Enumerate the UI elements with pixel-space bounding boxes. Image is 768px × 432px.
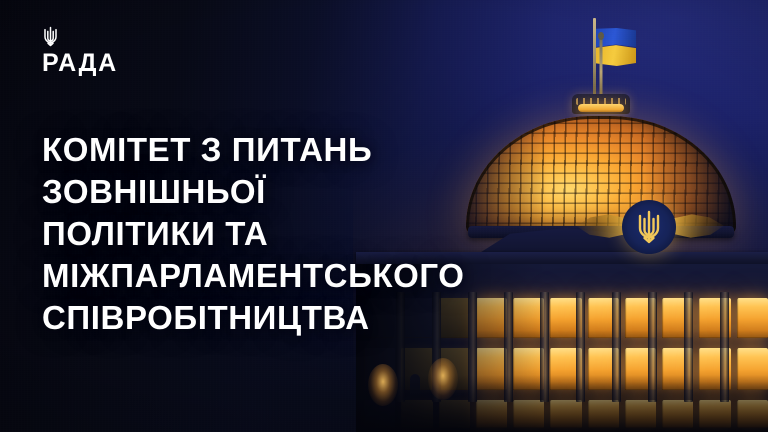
window-row-lower <box>356 400 768 428</box>
ukrainian-trident-icon <box>42 26 59 47</box>
facade-column <box>648 292 657 402</box>
title-line-2: ЗОВНІШНЬОЇ <box>42 171 642 213</box>
window <box>513 400 544 428</box>
facade-statue-silhouette <box>410 374 420 398</box>
dome-spire <box>600 38 603 100</box>
window <box>439 348 470 390</box>
window <box>364 400 395 428</box>
window <box>662 400 693 428</box>
title-line-5: СПІВРОБІТНИЦТВА <box>42 297 642 339</box>
window <box>737 348 768 390</box>
window <box>476 348 507 390</box>
title-line-3: ПОЛІТИКИ ТА <box>42 213 642 255</box>
banner-canvas: РАДА КОМІТЕТ З ПИТАНЬ ЗОВНІШНЬОЇ ПОЛІТИК… <box>0 0 768 432</box>
cupola-glow <box>578 104 624 112</box>
window <box>550 400 581 428</box>
dome-spire-cap <box>598 32 604 40</box>
window <box>625 400 656 428</box>
facade-column <box>720 292 729 402</box>
window <box>699 400 730 428</box>
window <box>476 400 507 428</box>
window <box>588 400 619 428</box>
title-line-4: МІЖПАРЛАМЕНТСЬКОГО <box>42 255 642 297</box>
rada-logo-text: РАДА <box>42 51 118 76</box>
page-title: КОМІТЕТ З ПИТАНЬ ЗОВНІШНЬОЇ ПОЛІТИКИ ТА … <box>42 129 642 339</box>
title-line-1: КОМІТЕТ З ПИТАНЬ <box>42 129 642 171</box>
window <box>364 348 395 390</box>
window <box>401 400 432 428</box>
facade-column <box>684 292 693 402</box>
window <box>737 298 768 338</box>
window <box>737 400 768 428</box>
rada-logo[interactable]: РАДА <box>42 26 118 76</box>
window <box>439 400 470 428</box>
